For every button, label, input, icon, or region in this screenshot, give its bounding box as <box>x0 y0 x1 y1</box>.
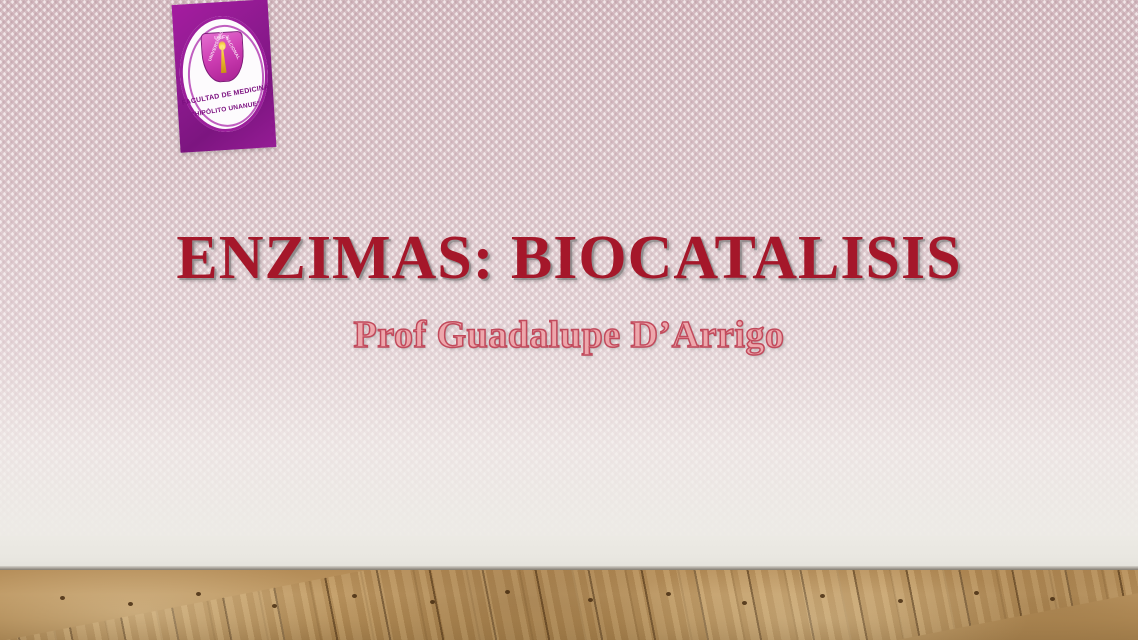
wood-knot <box>272 604 277 608</box>
wood-knot <box>974 591 979 595</box>
wood-knot <box>588 598 593 602</box>
logo-side-text-right: NACIONAL <box>224 36 241 61</box>
wood-knot <box>352 594 357 598</box>
floor-tonal-variation <box>0 570 1138 640</box>
wood-knot <box>820 594 825 598</box>
wood-knot <box>60 596 65 600</box>
wood-knot <box>666 592 671 596</box>
wood-knot <box>1050 597 1055 601</box>
presentation-slide: UNFV UNIVERSIDAD NACIONAL FACULTAD DE ME… <box>0 0 1138 640</box>
wood-knot <box>128 602 133 606</box>
slide-subtitle: Prof Guadalupe D’Arrigo <box>0 311 1138 359</box>
wood-knot <box>430 600 435 604</box>
wood-knot <box>505 590 510 594</box>
slide-title: ENZIMAS: BIOCATALISIS <box>0 222 1138 294</box>
logo-oval-plate: UNFV UNIVERSIDAD NACIONAL FACULTAD DE ME… <box>176 13 271 134</box>
university-logo: UNFV UNIVERSIDAD NACIONAL FACULTAD DE ME… <box>172 0 277 153</box>
wood-knot <box>742 601 747 605</box>
wood-knot <box>196 592 201 596</box>
wood-knot <box>898 599 903 603</box>
wooden-floor <box>0 570 1138 640</box>
